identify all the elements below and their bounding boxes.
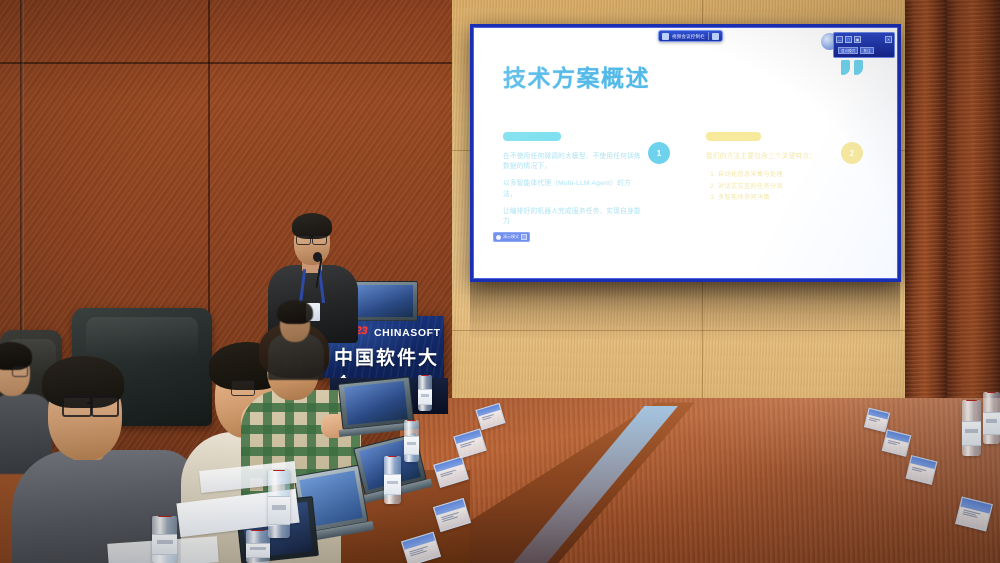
os-bar-label: 视频会议控制栏: [672, 33, 705, 40]
close-button[interactable]: ✕: [885, 36, 892, 43]
record-dot-icon: [496, 235, 501, 240]
column-2-list-item: 多智能体协同决策: [718, 192, 836, 203]
divider: [708, 32, 709, 40]
attendee-back: [268, 300, 324, 370]
chip-label: 演示模式: [503, 234, 519, 240]
slide-column-2: 我们的方法主要包含三个关键特点： 自动化信息采集与处理 对话式交互的任务分派 多…: [706, 132, 836, 204]
column-2-list-item: 自动化信息采集与处理: [718, 169, 836, 180]
attendee-laptop[interactable]: [338, 376, 414, 429]
microphone-icon: [313, 252, 322, 262]
restore-button[interactable]: ▣: [854, 36, 861, 43]
conference-room-scene: 视频会议控制栏 — ▢ ▣ ✕ 显示模式 批注 技术方案概述: [0, 0, 1000, 563]
wall-seam-vertical: [208, 0, 210, 330]
glasses-icon: [296, 235, 311, 245]
column-1-badge: 1: [648, 142, 670, 164]
slide-presentation-mode-chip[interactable]: 演示模式: [493, 232, 530, 242]
water-bottle[interactable]: [384, 456, 401, 504]
signal-icon: [662, 33, 669, 40]
presentation-display[interactable]: 视频会议控制栏 — ▢ ▣ ✕ 显示模式 批注 技术方案概述: [470, 24, 901, 282]
display-mode-pill[interactable]: 显示模式: [838, 47, 858, 54]
column-2-list: 自动化信息采集与处理 对话式交互的任务分派 多智能体协同决策: [706, 169, 836, 203]
video-conference-control-bar[interactable]: 视频会议控制栏: [658, 30, 723, 42]
glasses-icon: [62, 396, 92, 417]
minimize-button[interactable]: —: [836, 36, 843, 43]
podium-english-name: CHINASOFT: [374, 327, 441, 339]
column-1-paragraph: 以多智能体代理（Multi-LLM Agent）的方法，: [503, 179, 643, 199]
water-bottle[interactable]: [246, 530, 270, 563]
water-bottle[interactable]: [418, 375, 432, 411]
glasses-icon: [312, 235, 327, 245]
water-bottle[interactable]: [268, 470, 290, 538]
glasses-bridge: [87, 402, 92, 404]
column-2-list-item: 对话式交互的任务分派: [718, 181, 836, 192]
column-2-tag-bar: [706, 132, 761, 141]
share-icon[interactable]: [712, 33, 719, 40]
glasses-bridge: [309, 238, 312, 239]
window-chrome-widget[interactable]: — ▢ ▣ ✕ 显示模式 批注: [833, 32, 895, 58]
water-bottle[interactable]: [404, 420, 419, 462]
column-1-tag-bar: [503, 132, 561, 141]
glasses-icon: [91, 396, 119, 417]
column-1-paragraph: 让编排好的机器人完成服务任务，实现自身能力: [503, 207, 643, 227]
water-bottle[interactable]: [152, 516, 177, 563]
stop-square-icon[interactable]: [521, 234, 527, 240]
water-bottle[interactable]: [962, 400, 981, 456]
maximize-button[interactable]: ▢: [845, 36, 852, 43]
column-1-paragraph: 在不使用任何微调的大模型、不使用任何训练数据的情况下，: [503, 152, 643, 172]
water-bottle[interactable]: [983, 392, 1000, 444]
column-2-paragraph: 我们的方法主要包含三个关键特点：: [706, 152, 836, 162]
annotate-pill[interactable]: 批注: [860, 47, 873, 54]
quote-mark-icon: [841, 60, 863, 75]
slide-column-1: 在不使用任何微调的大模型、不使用任何训练数据的情况下， 以多智能体代理（Mult…: [503, 132, 643, 234]
presenter-laptop[interactable]: [352, 281, 418, 321]
slide-title: 技术方案概述: [503, 59, 650, 93]
column-2-badge: 2: [841, 142, 863, 164]
